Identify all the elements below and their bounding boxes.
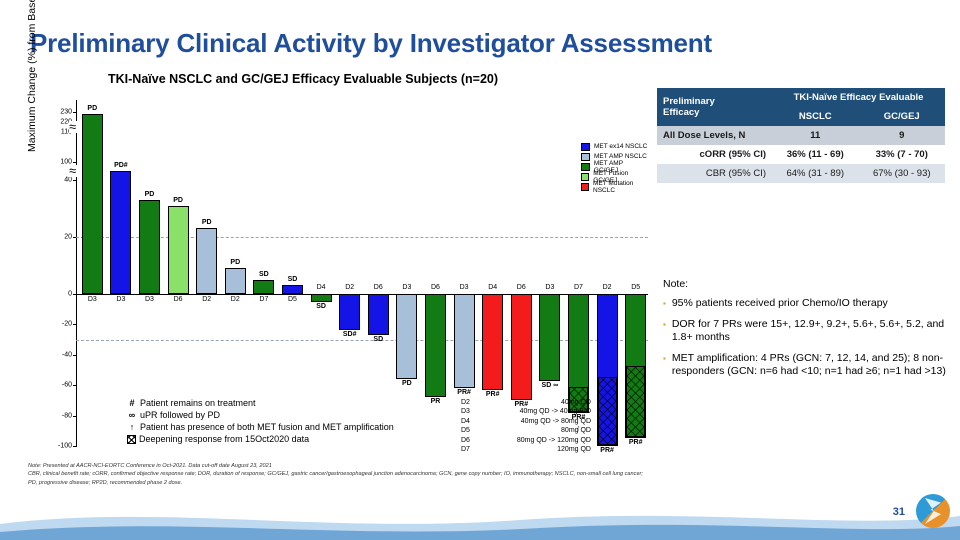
- y-tick-mark: [73, 385, 77, 386]
- dose-code: D3: [461, 407, 479, 416]
- column-header-gcgej: GC/GEJ: [859, 107, 946, 126]
- dose-level-row: D340mg QD -> 40mg BID: [461, 407, 591, 416]
- y-tick-label: -100: [50, 443, 72, 450]
- bar-response-label: PR#: [477, 391, 508, 398]
- row-value-gcgej: 33% (7 - 70): [859, 145, 946, 164]
- table-row: cORR (95% CI) 36% (11 - 69) 33% (7 - 70): [657, 145, 945, 164]
- y-tick-mark: [73, 180, 77, 181]
- y-tick-label: 20: [50, 234, 72, 241]
- page-number: 31: [893, 506, 905, 518]
- y-tick-mark: [73, 446, 77, 447]
- bar: [597, 294, 618, 446]
- bar-dose-label: D7: [563, 284, 594, 291]
- table-group-header: TKI-Naïve Efficacy Evaluable: [772, 88, 945, 107]
- y-tick-label: -20: [50, 321, 72, 328]
- symbol-key-row: ∞uPR followed by PD: [124, 410, 394, 421]
- deepening-response-hatch: [626, 366, 645, 437]
- symbol-key-text: Patient remains on treatment: [140, 398, 256, 409]
- bar: [196, 228, 217, 294]
- footnote-line: Note: Presented at AACR-NCI-EORTC Confer…: [28, 462, 728, 470]
- bar-dose-label: D6: [363, 284, 394, 291]
- bar: [425, 294, 446, 397]
- bar-response-label: PD: [191, 219, 222, 226]
- bar-response-label: SD: [277, 276, 308, 283]
- bar-response-label: PR#: [592, 447, 623, 454]
- bar-response-label: PD: [391, 380, 422, 387]
- bar-dose-label: D2: [592, 284, 623, 291]
- dose-regimen: 80mg QD -> 120mg QD: [479, 436, 591, 445]
- bar: [396, 294, 417, 379]
- symbol-key-row: Deepening response from 15Oct2020 data: [124, 434, 394, 445]
- dose-regimen: 40mg QD -> 40mg BID: [479, 407, 591, 416]
- bar-response-label: PR#: [449, 389, 480, 396]
- bar: [139, 200, 160, 294]
- bar-dose-label: D3: [105, 296, 136, 303]
- dose-level-row: D7120mg QD: [461, 445, 591, 454]
- bar: [311, 294, 332, 302]
- bar: [482, 294, 503, 390]
- symbol-glyph: ↑: [124, 422, 140, 433]
- chart-title: TKI-Naïve NSCLC and GC/GEJ Efficacy Eval…: [108, 72, 498, 86]
- y-tick-mark: [73, 416, 77, 417]
- dose-code: D7: [461, 445, 479, 454]
- bar-dose-label: D3: [449, 284, 480, 291]
- symbol-key-text: Deepening response from 15Oct2020 data: [139, 434, 309, 445]
- symbol-glyph: ∞: [124, 410, 140, 421]
- bar-dose-label: D5: [277, 296, 308, 303]
- y-tick-label: 230: [50, 109, 72, 116]
- company-logo-icon: [916, 494, 950, 528]
- dose-level-row: D440mg QD -> 80mg QD: [461, 417, 591, 426]
- note-bullet-text: 95% patients received prior Chemo/IO the…: [672, 297, 888, 311]
- corner-label-line1: Preliminary: [663, 96, 766, 107]
- symbol-key-text: uPR followed by PD: [140, 410, 220, 421]
- legend-item: MET ex14 NSCLC: [581, 142, 648, 151]
- bar-dose-label: D4: [477, 284, 508, 291]
- dose-regimen: 40mg QD -> 80mg QD: [479, 417, 591, 426]
- note-bullet-list: ▪95% patients received prior Chemo/IO th…: [663, 297, 951, 379]
- page-title: Preliminary Clinical Activity by Investi…: [30, 28, 712, 59]
- note-bullet-text: MET amplification: 4 PRs (GCN: 7, 12, 14…: [672, 352, 951, 379]
- y-tick-mark: [73, 294, 77, 295]
- row-label: All Dose Levels, N: [657, 126, 772, 145]
- bar-response-label: PD: [220, 259, 251, 266]
- legend-swatch: [581, 143, 590, 151]
- bar-dose-label: D6: [506, 284, 537, 291]
- bullet-icon: ▪: [663, 352, 666, 379]
- bar-response-label: SD#: [334, 331, 365, 338]
- y-tick-mark: [73, 112, 77, 113]
- bullet-icon: ▪: [663, 318, 666, 345]
- bar: [82, 114, 103, 294]
- bullet-icon: ▪: [663, 297, 666, 311]
- bar-dose-label: D4: [306, 284, 337, 291]
- dose-regimen: 80mg QD: [479, 426, 591, 435]
- legend-swatch: [581, 173, 589, 181]
- bar-response-label: PD#: [105, 162, 136, 169]
- hatch-swatch-icon: [127, 435, 136, 444]
- note-bullet-text: DOR for 7 PRs were 15+, 12.9+, 9.2+, 5.6…: [672, 318, 951, 345]
- bar: [282, 285, 303, 294]
- bar-dose-label: D6: [420, 284, 451, 291]
- note-bullet: ▪95% patients received prior Chemo/IO th…: [663, 297, 951, 311]
- table-header-row: Preliminary Efficacy TKI-Naïve Efficacy …: [657, 88, 945, 107]
- dose-level-row: D680mg QD -> 120mg QD: [461, 436, 591, 445]
- dose-regimen: 120mg QD: [479, 445, 591, 454]
- bar: [568, 294, 589, 413]
- note-bullet: ▪MET amplification: 4 PRs (GCN: 7, 12, 1…: [663, 352, 951, 379]
- bar-dose-label: D2: [220, 296, 251, 303]
- row-value-nsclc: 11: [772, 126, 858, 145]
- dose-code: D5: [461, 426, 479, 435]
- waterfall-chart: Maximum Change (%) from Baseline in Tumo…: [30, 92, 650, 452]
- legend-label: MET ex14 NSCLC: [594, 143, 647, 150]
- bar-response-label: SD: [248, 271, 279, 278]
- bar-response-label: SD: [306, 303, 337, 310]
- bar-dose-label: D2: [334, 284, 365, 291]
- bar-response-label: SD ∞: [534, 382, 565, 389]
- bar-dose-label: D2: [191, 296, 222, 303]
- bar-response-label: PD: [77, 105, 108, 112]
- y-tick-label: -80: [50, 412, 72, 419]
- bar-dose-label: D3: [77, 296, 108, 303]
- legend-label: MET Mutation NSCLC: [593, 180, 648, 194]
- y-tick-label: -40: [50, 351, 72, 358]
- deepening-response-hatch: [598, 377, 617, 445]
- y-tick-label: -60: [50, 382, 72, 389]
- bar: [339, 294, 360, 330]
- y-tick-mark: [73, 355, 77, 356]
- dose-code: D6: [461, 436, 479, 445]
- table-corner-label: Preliminary Efficacy: [657, 88, 772, 126]
- note-bullet: ▪DOR for 7 PRs were 15+, 12.9+, 9.2+, 5.…: [663, 318, 951, 345]
- table-row: All Dose Levels, N 11 9: [657, 126, 945, 145]
- footer-wave: [0, 494, 960, 540]
- symbol-key: #Patient remains on treatment∞uPR follow…: [124, 398, 394, 446]
- symbol-key-row: #Patient remains on treatment: [124, 398, 394, 409]
- footnote-line: PD, progressive disease; RP2D, recommend…: [28, 479, 728, 487]
- plot-area: 23022011010040200-20-40-60-80-100≈≈ PDD3…: [76, 100, 648, 446]
- bar: [511, 294, 532, 400]
- bar: [368, 294, 389, 335]
- y-axis-label: Maximum Change (%) from Baseline in Tumo…: [26, 0, 38, 152]
- bar-dose-label: D7: [248, 296, 279, 303]
- bar: [454, 294, 475, 388]
- row-value-nsclc: 64% (31 - 89): [772, 164, 858, 183]
- dose-code: D2: [461, 398, 479, 407]
- dose-level-row: D240mg QD: [461, 398, 591, 407]
- legend-swatch: [581, 153, 590, 161]
- bar-series: PDD3PD#D3PDD3PDD6PDD2PDD2SDD7SDD5SDD4SD#…: [78, 100, 648, 446]
- bar: [253, 280, 274, 294]
- bar: [110, 171, 131, 294]
- bar-dose-label: D5: [620, 284, 651, 291]
- column-header-nsclc: NSCLC: [772, 107, 858, 126]
- bar-response-label: PD: [163, 197, 194, 204]
- dose-level-row: D580mg QD: [461, 426, 591, 435]
- row-value-gcgej: 9: [859, 126, 946, 145]
- bar: [168, 206, 189, 294]
- row-value-nsclc: 36% (11 - 69): [772, 145, 858, 164]
- corner-label-line2: Efficacy: [663, 107, 766, 118]
- dose-code: D4: [461, 417, 479, 426]
- bar: [539, 294, 560, 381]
- y-tick-label: 0: [50, 291, 72, 298]
- row-value-gcgej: 67% (30 - 93): [859, 164, 946, 183]
- legend-item: MET Mutation NSCLC: [581, 182, 648, 191]
- row-label: cORR (95% CI): [657, 145, 772, 164]
- y-axis: [76, 100, 77, 446]
- bar-response-label: PR#: [620, 439, 651, 446]
- bar-dose-label: D3: [391, 284, 422, 291]
- table-row: CBR (95% CI) 64% (31 - 89) 67% (30 - 93): [657, 164, 945, 183]
- note-heading: Note:: [663, 278, 951, 290]
- footnote-line: CBR, clinical benefit rate; cORR, confir…: [28, 470, 728, 478]
- symbol-key-text: Patient has presence of both MET fusion …: [140, 422, 394, 433]
- bar-response-label: PD: [134, 191, 165, 198]
- efficacy-table: Preliminary Efficacy TKI-Naïve Efficacy …: [657, 88, 945, 183]
- chart-legend: MET ex14 NSCLCMET AMP NSCLCMET AMP GC/GE…: [581, 142, 648, 192]
- dose-regimen: 40mg QD: [479, 398, 591, 407]
- bar: [625, 294, 646, 438]
- bar-dose-label: D3: [134, 296, 165, 303]
- bar-response-label: SD: [363, 336, 394, 343]
- dose-level-key: D240mg QDD340mg QD -> 40mg BIDD440mg QD …: [461, 398, 591, 454]
- bar-response-label: PR: [420, 398, 451, 405]
- note-block: Note: ▪95% patients received prior Chemo…: [663, 278, 951, 386]
- symbol-glyph: #: [124, 398, 140, 409]
- slide-root: Preliminary Clinical Activity by Investi…: [0, 0, 960, 540]
- y-tick-mark: [73, 324, 77, 325]
- footnotes: Note: Presented at AACR-NCI-EORTC Confer…: [28, 462, 728, 487]
- symbol-key-row: ↑Patient has presence of both MET fusion…: [124, 422, 394, 433]
- bar-dose-label: D3: [534, 284, 565, 291]
- bar-dose-label: D6: [163, 296, 194, 303]
- legend-swatch: [581, 163, 590, 171]
- bar: [225, 268, 246, 294]
- legend-swatch: [581, 183, 589, 191]
- row-label: CBR (95% CI): [657, 164, 772, 183]
